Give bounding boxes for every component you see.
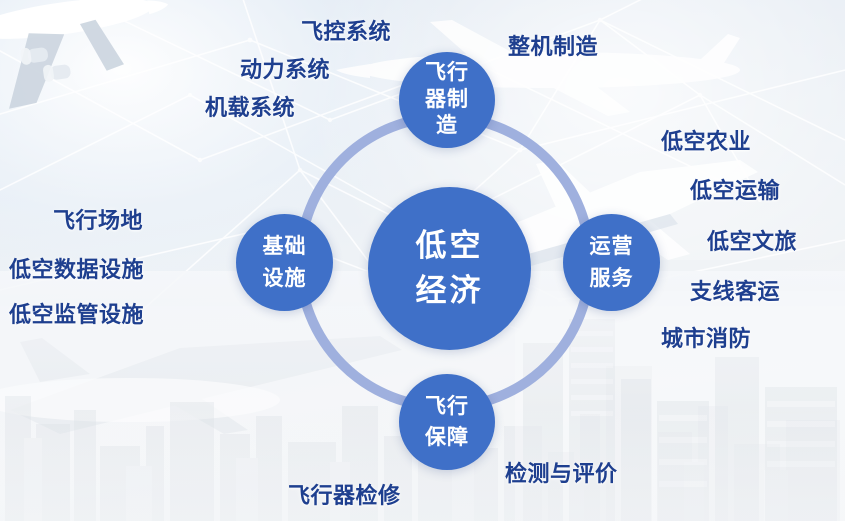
node-aircraft-manufacturing[interactable]: 飞行 器制 造: [399, 52, 495, 148]
node-aircraft-manufacturing-line-3: 造: [436, 113, 458, 140]
label-testing-and-evaluation: 检测与评价: [505, 456, 618, 488]
label-low-altitude-data-facility: 低空数据设施: [9, 252, 144, 284]
label-airborne-system: 机载系统: [205, 90, 295, 122]
label-low-altitude-transport: 低空运输: [690, 173, 780, 205]
node-flight-support-line-2: 保障: [425, 422, 469, 454]
label-regional-passenger-transport: 支线客运: [690, 274, 780, 306]
label-aircraft-maintenance: 飞行器检修: [288, 478, 401, 510]
label-complete-aircraft-manufacturing: 整机制造: [508, 29, 598, 61]
center-node-line-2: 经济: [416, 269, 484, 313]
node-infrastructure-line-2: 设施: [263, 263, 307, 295]
node-flight-support[interactable]: 飞行 保障: [399, 374, 495, 470]
node-operation-services[interactable]: 运营 服务: [563, 214, 660, 311]
center-node-line-1: 低空: [416, 224, 484, 268]
label-flight-control-system: 飞控系统: [301, 14, 391, 46]
node-aircraft-manufacturing-line-1: 飞行: [425, 60, 469, 87]
node-operation-services-line-1: 运营: [590, 231, 634, 263]
node-flight-support-line-1: 飞行: [425, 391, 469, 423]
node-infrastructure-line-1: 基础: [263, 231, 307, 263]
infographic-canvas: 低空 经济 飞行 器制 造 运营 服务 飞行 保障 基础 设施 飞控系统 动力系…: [0, 0, 845, 521]
label-low-altitude-tourism: 低空文旅: [707, 224, 797, 256]
label-power-system: 动力系统: [240, 52, 330, 84]
label-low-altitude-agriculture: 低空农业: [661, 124, 751, 156]
center-node-low-altitude-economy[interactable]: 低空 经济: [368, 187, 531, 350]
node-operation-services-line-2: 服务: [590, 263, 634, 295]
label-urban-firefighting: 城市消防: [661, 321, 751, 353]
label-flight-site: 飞行场地: [53, 203, 143, 235]
airplane-top-left-illustration: [0, 0, 201, 143]
node-aircraft-manufacturing-line-2: 器制: [425, 87, 469, 114]
node-infrastructure[interactable]: 基础 设施: [236, 214, 333, 311]
label-low-altitude-regulatory-facility: 低空监管设施: [9, 297, 144, 329]
